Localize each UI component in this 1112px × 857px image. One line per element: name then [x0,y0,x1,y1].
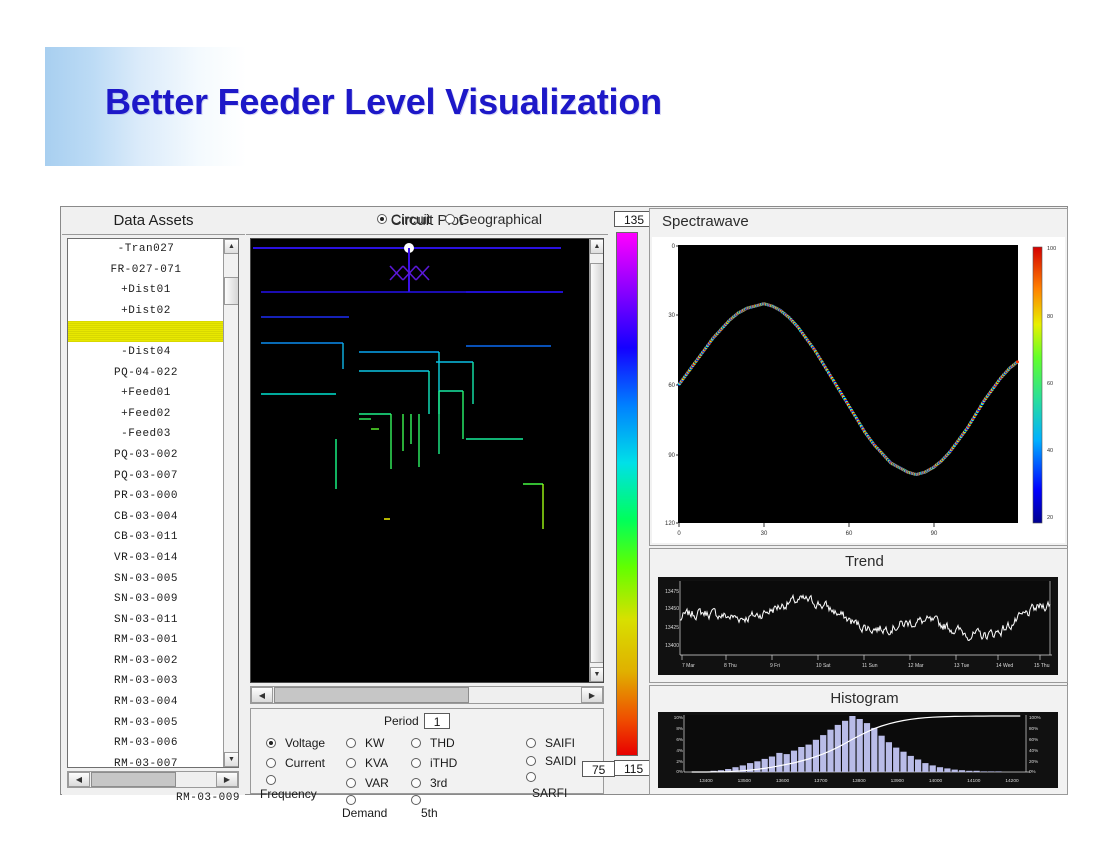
radio-saifi-icon[interactable] [526,738,536,748]
histogram-bar [798,747,804,772]
asset-row[interactable]: RM-03-004 [68,692,224,713]
histogram-bar [886,742,892,772]
svg-text:6%: 6% [676,737,683,742]
histogram-bar [879,736,885,772]
radio-saifi-label: SAIFI [545,736,575,750]
svg-text:80: 80 [1047,314,1053,320]
trend-title: Trend [650,549,1067,575]
radio-frequency-icon[interactable] [266,775,276,785]
radio-option-kw[interactable]: KW [346,733,389,753]
radio-option-ithd[interactable]: iTHD [411,753,457,773]
quantity-radio-group[interactable]: Voltage Current Frequency [266,733,325,801]
voltage-colorbar-legend: 135 115 [610,208,648,795]
histogram-bar [857,719,863,772]
svg-text:60: 60 [846,531,853,537]
radio-ithd-icon[interactable] [411,758,421,768]
radio-voltage-label: Voltage [285,736,325,750]
radio-demand-label: Demand [342,806,387,820]
circuit-vertical-scroll-thumb[interactable] [590,263,604,663]
histogram-xtick-label: 13900 [891,778,905,784]
assets-scroll-up-button[interactable]: ▲ [224,239,239,254]
histogram-bar [776,753,782,772]
period-input[interactable]: 1 [424,713,451,729]
radio-3rd-icon[interactable] [411,778,421,788]
radio-geographical-view[interactable] [445,214,455,224]
svg-text:14 Wed: 14 Wed [996,663,1013,669]
svg-text:13 Tue: 13 Tue [954,663,970,669]
assets-horizontal-scroll-thumb[interactable] [91,772,176,787]
radio-option-frequency[interactable] [266,773,325,787]
svg-text:4%: 4% [676,748,683,753]
histogram-bar [944,768,950,772]
svg-text:100%: 100% [1029,715,1041,720]
period-label: Period [384,714,419,728]
asset-row[interactable]: CB-03-004 [68,507,224,528]
spectrawave-title: Spectrawave [650,209,1067,235]
radio-kw-icon[interactable] [346,738,356,748]
asset-row[interactable]: PQ-03-007 [68,466,224,487]
power-radio-group[interactable]: KW KVA VAR Demand [346,733,389,819]
trend-chart[interactable]: 1347513450 1342513400 7 Mar8 Thu 9 Fri10… [658,577,1058,675]
histogram-chart[interactable]: 10%8% 6%4% 2%0% 100%80% 60%40% 20%0% 134… [658,712,1058,788]
radio-option-demand[interactable] [346,793,389,806]
histogram-bar [959,770,965,772]
svg-text:0%: 0% [1029,769,1036,774]
svg-text:40: 40 [1047,448,1053,454]
radio-saidi-icon[interactable] [526,756,536,766]
radio-option-saifi[interactable]: SAIFI [526,733,576,753]
histogram-xtick-label: 13400 [699,778,713,784]
svg-text:90: 90 [668,453,675,459]
asset-row[interactable]: RM-03-003 [68,671,224,692]
radio-demand-icon[interactable] [346,795,356,805]
fifth-label-row: 5th [421,806,457,819]
data-assets-header: Data Assets [62,208,245,235]
svg-text:11 Sun: 11 Sun [862,663,878,669]
asset-row[interactable]: -Tran027 [68,239,224,260]
svg-text:13475: 13475 [665,589,679,595]
radio-circuit-view-label: Circuit [391,211,431,227]
asset-row[interactable]: +Feed02 [68,404,224,425]
radio-saidi-label: SAIDI [545,754,576,768]
slide-title-bar: Better Feeder Level Visualization [45,47,637,166]
svg-text:40%: 40% [1029,748,1038,753]
radio-option-thd[interactable]: THD [411,733,457,753]
svg-text:100: 100 [1047,246,1056,252]
svg-text:8%: 8% [676,726,683,731]
histogram-bar [995,771,1001,772]
assets-horizontal-scrollbar[interactable]: ◀ ▶ [67,771,239,788]
radio-option-var[interactable]: VAR [346,773,389,793]
radio-geographical-view-label: Geographical [459,211,542,227]
radio-thd-label: THD [430,736,455,750]
circuit-vertical-scrollbar[interactable]: ▲ ▼ [589,239,603,682]
sarfi-label-row: SARFI [532,785,576,801]
radio-sarfi-label: SARFI [532,786,567,800]
asset-row[interactable]: SN-03-005 [68,569,224,590]
circuit-scroll-up-button[interactable]: ▲ [590,239,604,254]
circuit-scroll-down-button[interactable]: ▼ [590,667,604,682]
radio-option-current[interactable]: Current [266,753,325,773]
asset-row[interactable]: RM-03-005 [68,713,224,734]
histogram-bar [915,760,921,773]
radio-5th-label: 5th [421,806,438,820]
spectrawave-chart[interactable]: 030 6090 120 030 6090 [652,237,1065,543]
asset-row[interactable]: FR-027-071 [68,260,224,281]
radio-var-icon[interactable] [346,778,356,788]
svg-text:30: 30 [668,313,675,319]
histogram-bar [842,721,848,772]
radio-option-saidi[interactable]: SAIDI [526,753,576,769]
radio-current-label: Current [285,756,325,770]
assets-scroll-right-button[interactable]: ▶ [216,772,238,787]
asset-row[interactable]: +Dist01 [68,280,224,301]
svg-text:60: 60 [668,383,675,389]
histogram-xtick-label: 14100 [967,778,981,784]
data-assets-panel: Data Assets -Tran027FR-027-071+Dist01+Di… [62,208,245,795]
circuit-horizontal-scroll-thumb[interactable] [274,687,469,703]
svg-text:0%: 0% [676,769,683,774]
reliability-radio-group[interactable]: SAIFI SAIDI SARFI [526,733,576,801]
radio-voltage-icon[interactable] [266,738,276,748]
histogram-bar [930,765,936,772]
measurement-controls-panel: Period 1 Voltage Current Frequency [250,708,604,794]
histogram-bar [769,757,775,773]
svg-text:20%: 20% [1029,759,1038,764]
svg-text:12 Mar: 12 Mar [908,663,924,669]
data-assets-list[interactable]: -Tran027FR-027-071+Dist01+Dist02-Dist04P… [67,238,239,768]
asset-row[interactable]: PQ-03-002 [68,445,224,466]
asset-row[interactable]: SN-03-011 [68,610,224,631]
frequency-label-row: Frequency [260,787,325,801]
spectrawave-panel: Spectrawave 030 6090 120 030 [649,208,1068,546]
asset-row[interactable]: CB-03-011 [68,527,224,548]
asset-row[interactable]: PQ-04-022 [68,363,224,384]
histogram-bar [966,771,972,772]
voltage-colorbar-min[interactable]: 115 [614,760,653,776]
radio-kw-label: KW [365,736,384,750]
radio-option-3rd[interactable]: 3rd [411,773,457,793]
circuit-scroll-right-button[interactable]: ▶ [581,687,603,703]
page-title: Better Feeder Level Visualization [105,81,662,123]
svg-text:2%: 2% [676,759,683,764]
assets-scroll-left-button[interactable]: ◀ [68,772,90,787]
svg-text:9 Fri: 9 Fri [770,663,780,669]
svg-text:20: 20 [1047,515,1053,521]
svg-text:13425: 13425 [665,625,679,631]
asset-row[interactable]: +Dist02 [68,301,224,322]
histogram-xtick-label: 14200 [1005,778,1019,784]
radio-sarfi-icon[interactable] [526,772,536,782]
data-assets-rows: -Tran027FR-027-071+Dist01+Dist02-Dist04P… [68,239,224,768]
radio-thd-icon[interactable] [411,738,421,748]
asset-row-selected[interactable] [68,321,224,342]
histogram-bar [974,771,980,772]
histogram-bar [871,728,877,772]
histogram-bar [849,716,855,772]
circuit-plot-header: Circuit Plot Circuit Geographical [246,208,608,235]
histogram-bar [988,771,994,772]
svg-text:13450: 13450 [665,606,679,612]
histogram-bar [762,759,768,772]
histogram-bar [952,770,958,772]
asset-row[interactable]: RM-03-001 [68,630,224,651]
radio-option-kva[interactable]: KVA [346,753,389,773]
asset-row[interactable]: VR-03-014 [68,548,224,569]
assets-vertical-scroll-thumb[interactable] [224,277,239,305]
demand-label-row: Demand [342,806,389,819]
svg-text:10 Sat: 10 Sat [816,663,831,669]
radio-option-5th[interactable] [411,793,457,806]
radio-option-voltage[interactable]: Voltage [266,733,325,753]
radio-current-icon[interactable] [266,758,276,768]
assets-vertical-scrollbar[interactable]: ▲ ▼ [223,239,238,767]
harmonics-radio-group[interactable]: THD iTHD 3rd 5th [411,733,457,819]
radio-ithd-label: iTHD [430,756,457,770]
svg-text:60: 60 [1047,381,1053,387]
histogram-xtick-label: 13800 [852,778,866,784]
asset-row[interactable]: RM-03-007 [68,754,224,768]
histogram-bar [922,763,928,772]
svg-text:60%: 60% [1029,737,1038,742]
period-control: Period 1 [384,713,450,729]
histogram-bar [900,752,906,772]
assets-scroll-down-button[interactable]: ▼ [224,752,239,767]
histogram-bar [893,748,899,772]
histogram-xtick-label: 13600 [776,778,790,784]
histogram-bar [784,754,790,772]
circuit-plot-panel: Circuit Plot Circuit Geographical [246,208,608,795]
svg-text:8 Thu: 8 Thu [724,663,737,669]
svg-text:80%: 80% [1029,726,1038,731]
voltage-colorbar-gradient [616,232,638,756]
radio-5th-icon[interactable] [411,795,421,805]
histogram-xtick-label: 13500 [738,778,752,784]
radio-kva-icon[interactable] [346,758,356,768]
histogram-bar [791,751,797,772]
circuit-diagram [251,239,591,682]
asset-row[interactable]: -Feed03 [68,424,224,445]
asset-row[interactable]: PR-03-000 [68,486,224,507]
histogram-panel: Histogram 10%8% 6%4% 2%0% 100%80% 60%40%… [649,685,1068,795]
circuit-horizontal-scrollbar[interactable]: ◀ ▶ [250,686,604,704]
histogram-xtick-label: 13700 [814,778,828,784]
svg-text:15 Thu: 15 Thu [1034,663,1050,669]
radio-3rd-label: 3rd [430,776,447,790]
histogram-bar [754,761,760,772]
asset-row[interactable]: +Feed01 [68,383,224,404]
radio-frequency-label: Frequency [260,787,317,801]
radio-kva-label: KVA [365,756,388,770]
svg-text:90: 90 [931,531,938,537]
asset-row[interactable]: SN-03-009 [68,589,224,610]
right-panel-column: Spectrawave 030 6090 120 030 [649,208,1068,795]
histogram-bar [908,756,914,772]
asset-row[interactable]: RM-03-002 [68,651,224,672]
svg-text:30: 30 [761,531,768,537]
histogram-xtick-label: 14000 [929,778,943,784]
trend-panel: Trend 1347513450 1342513400 7 Mar8 Thu 9… [649,548,1068,683]
histogram-bar [981,771,987,772]
svg-text:13400: 13400 [665,643,679,649]
radio-option-sarfi[interactable] [526,769,576,785]
svg-text:10%: 10% [674,715,683,720]
radio-circuit-view[interactable] [377,214,387,224]
histogram-bar [937,767,943,772]
histogram-title: Histogram [650,686,1067,712]
asset-row[interactable]: RM-03-006 [68,733,224,754]
svg-text:120: 120 [665,521,676,527]
application-window: Data Assets -Tran027FR-027-071+Dist01+Di… [60,206,1068,795]
svg-text:7 Mar: 7 Mar [682,663,695,669]
radio-var-label: VAR [365,776,389,790]
circuit-scroll-left-button[interactable]: ◀ [251,687,273,703]
asset-row[interactable]: -Dist04 [68,342,224,363]
circuit-plot-canvas[interactable]: ▲ ▼ [250,238,604,683]
circuit-view-radio-group[interactable]: Circuit Geographical [377,211,552,227]
